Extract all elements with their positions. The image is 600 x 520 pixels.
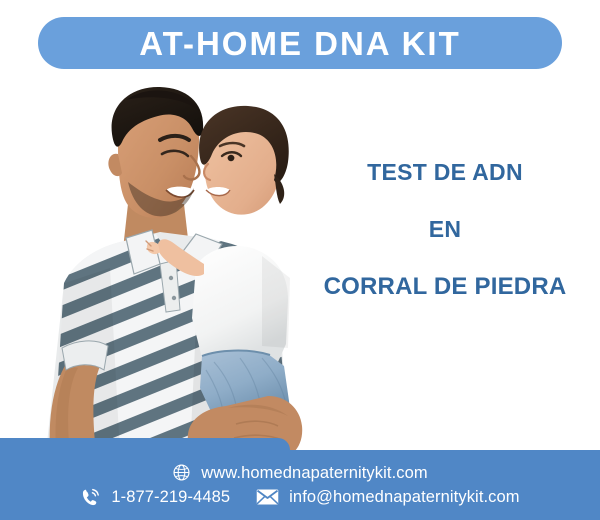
page-title: AT-HOME DNA KIT <box>139 27 460 60</box>
email-label: info@homednapaternitykit.com <box>289 487 520 507</box>
footer-contact-group: www.homednapaternitykit.com 1-877-219-44… <box>0 450 600 520</box>
headline-line-3: CORRAL DE PIEDRA <box>300 274 590 300</box>
footer-row-website: www.homednapaternitykit.com <box>0 463 600 483</box>
footer-row-phone-email: 1-877-219-4485 info@homednapaternitykit.… <box>0 487 600 508</box>
website-label: www.homednapaternitykit.com <box>201 463 427 483</box>
email-contact-item[interactable]: info@homednapaternitykit.com <box>256 487 520 507</box>
phone-icon <box>80 487 101 508</box>
envelope-icon <box>256 488 279 506</box>
phone-label: 1-877-219-4485 <box>111 487 230 507</box>
website-contact-item[interactable]: www.homednapaternitykit.com <box>172 463 427 483</box>
dna-kit-banner-card: AT-HOME DNA KIT <box>0 0 600 520</box>
headline-line-1: TEST DE ADN <box>300 160 590 184</box>
father-holding-toddler-photo <box>0 78 320 453</box>
phone-contact-item[interactable]: 1-877-219-4485 <box>80 487 230 508</box>
globe-icon <box>172 463 191 482</box>
location-headline-block: TEST DE ADN EN CORRAL DE PIEDRA <box>300 160 590 300</box>
headline-line-2: EN <box>300 217 590 241</box>
header-banner-pill: AT-HOME DNA KIT <box>38 17 562 69</box>
